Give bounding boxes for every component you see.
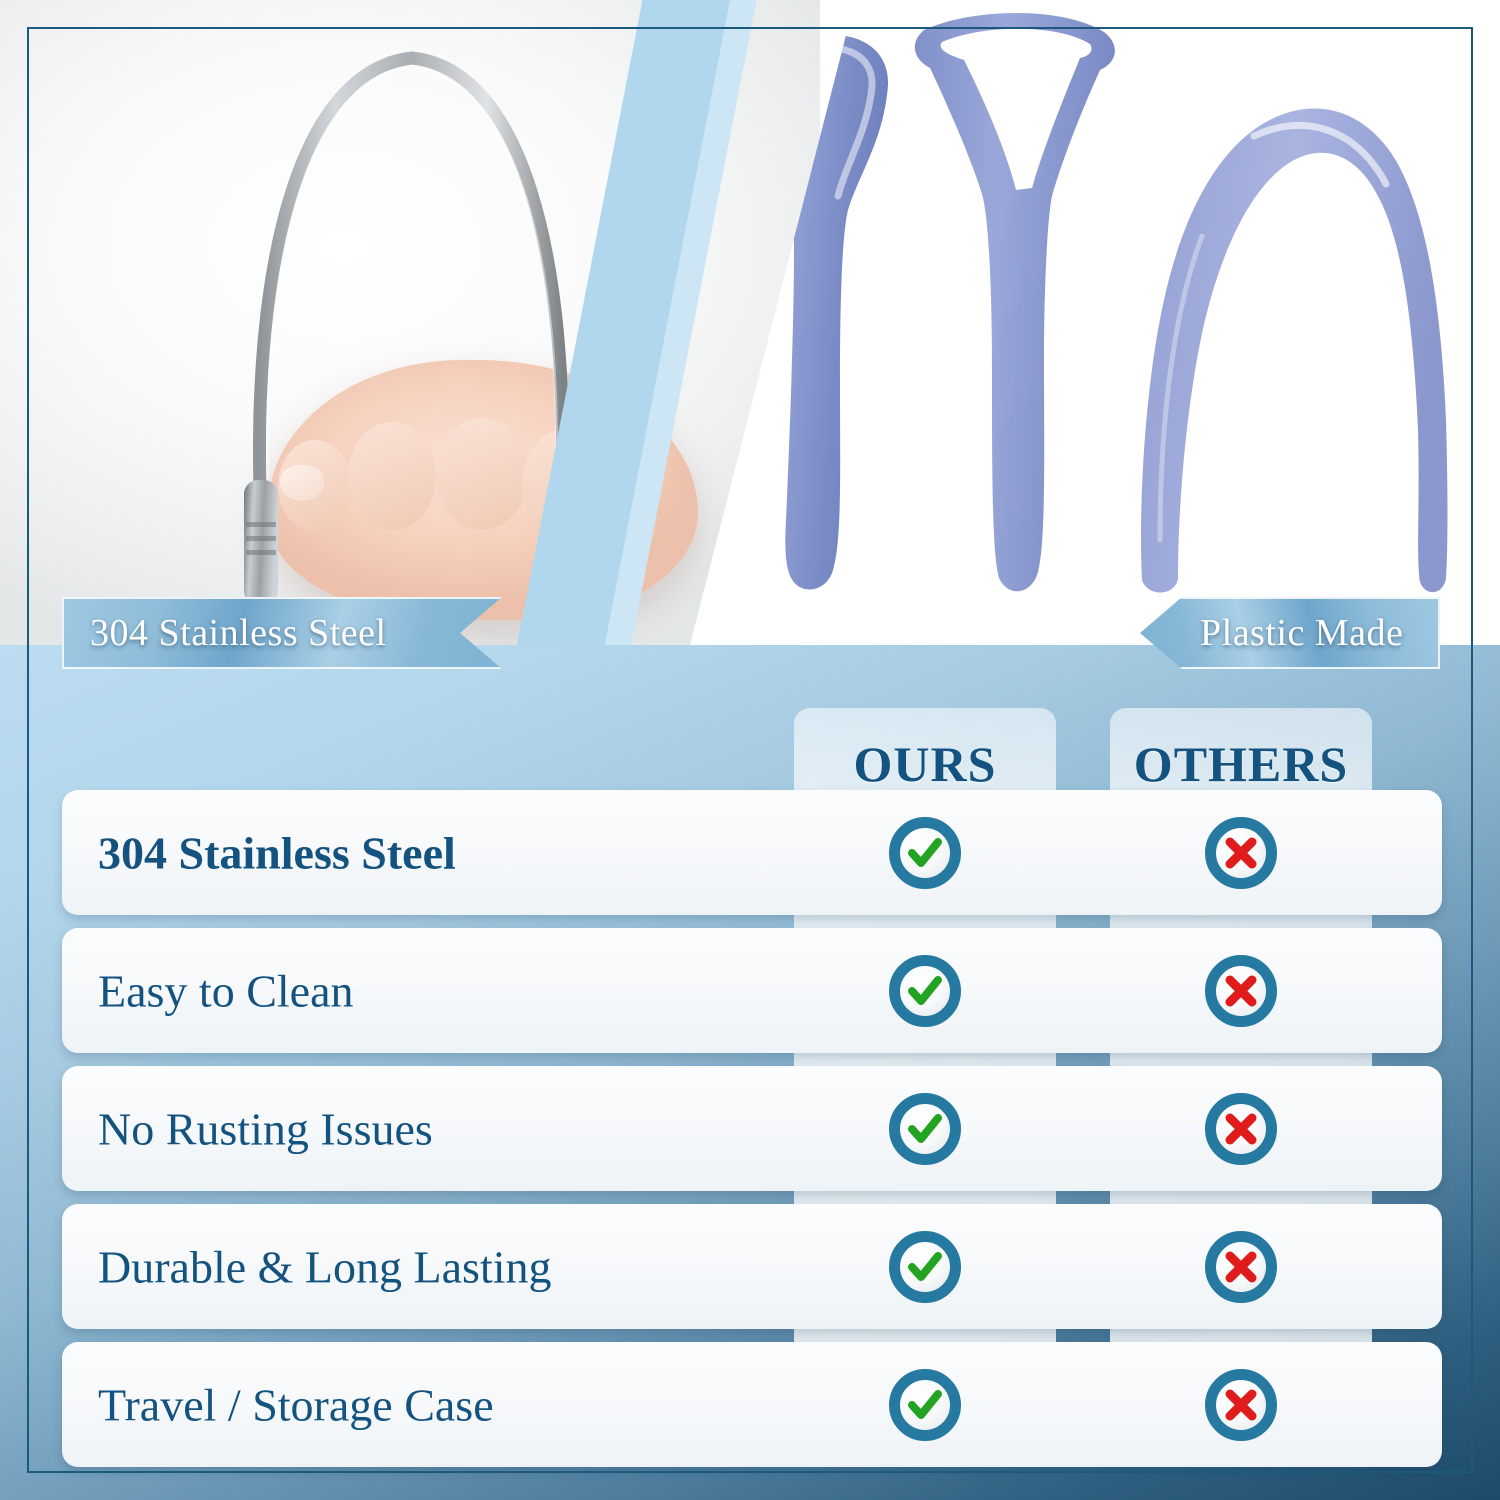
cell-others — [1110, 1093, 1372, 1165]
check-circle-icon — [889, 1369, 961, 1441]
column-header-ours: OURS — [794, 730, 1056, 798]
cell-others — [1110, 1369, 1372, 1441]
check-circle-icon — [889, 955, 961, 1027]
feature-label: No Rusting Issues — [98, 1102, 433, 1155]
plastic-scraper-u — [1141, 108, 1448, 592]
cross-circle-icon — [1205, 955, 1277, 1027]
cell-ours — [794, 1369, 1056, 1441]
cell-ours — [794, 817, 1056, 889]
feature-label: Easy to Clean — [98, 964, 354, 1017]
table-row: 304 Stainless Steel — [62, 790, 1442, 915]
banner-stainless-steel: 304 Stainless Steel — [62, 597, 502, 669]
table-row: Travel / Storage Case — [62, 1342, 1442, 1467]
banner-plastic-made: Plastic Made — [1140, 597, 1440, 669]
cell-others — [1110, 1231, 1372, 1303]
table-row: Durable & Long Lasting — [62, 1204, 1442, 1329]
table-row: No Rusting Issues — [62, 1066, 1442, 1191]
check-circle-icon — [889, 1093, 961, 1165]
column-header-others: OTHERS — [1110, 730, 1372, 798]
feature-label: 304 Stainless Steel — [98, 826, 456, 879]
cross-circle-icon — [1205, 817, 1277, 889]
product-photo-band — [0, 0, 1500, 645]
cross-circle-icon — [1205, 1093, 1277, 1165]
column-header-others-label: OTHERS — [1134, 735, 1348, 793]
cell-others — [1110, 955, 1372, 1027]
table-row: Easy to Clean — [62, 928, 1442, 1053]
check-circle-icon — [889, 1231, 961, 1303]
feature-label: Travel / Storage Case — [98, 1378, 494, 1431]
column-header-ours-label: OURS — [854, 735, 997, 793]
cell-others — [1110, 817, 1372, 889]
banner-right-label: Plastic Made — [1200, 611, 1403, 655]
plastic-scraper-loop — [915, 13, 1115, 591]
cell-ours — [794, 1231, 1056, 1303]
feature-label: Durable & Long Lasting — [98, 1240, 552, 1293]
banner-left-label: 304 Stainless Steel — [90, 611, 387, 655]
infographic-canvas: 304 Stainless Steel Plastic Made OURS OT… — [0, 0, 1500, 1500]
cell-ours — [794, 1093, 1056, 1165]
cross-circle-icon — [1205, 1231, 1277, 1303]
cross-circle-icon — [1205, 1369, 1277, 1441]
cell-ours — [794, 955, 1056, 1027]
check-circle-icon — [889, 817, 961, 889]
